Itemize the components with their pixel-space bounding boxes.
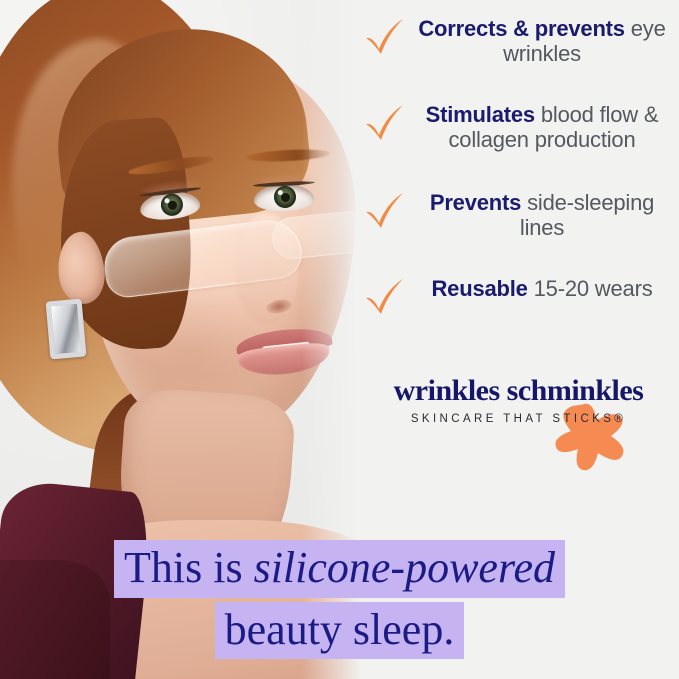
product-marketing-image: Corrects & prevents eye wrinkles Stimula… <box>0 0 679 679</box>
benefit-text-3: Prevents side-sleeping lines <box>408 190 676 241</box>
benefit-item-3: Prevents side-sleeping lines <box>358 190 679 241</box>
banner-line-1: This is silicone-powered <box>0 540 679 598</box>
brand-tagline: SKINCARE THAT STICKS® <box>358 413 679 425</box>
orange-check-icon <box>362 190 406 230</box>
benefit-highlight-2: Stimulates <box>426 102 535 127</box>
banner-line-2-mark: beauty sleep. <box>215 602 465 660</box>
iris-right <box>274 186 297 209</box>
orange-check-icon <box>362 276 406 316</box>
benefit-highlight-4: Reusable <box>431 276 527 301</box>
banner-line-1-mark: This is silicone-powered <box>114 540 565 598</box>
banner-line-2: beauty sleep. <box>0 602 679 660</box>
banner-line-1-italic: silicone-powered <box>254 543 555 592</box>
orange-x-splat-icon <box>554 400 632 474</box>
silver-hoop-earring-icon <box>46 299 87 360</box>
benefit-highlight-3: Prevents <box>430 190 521 215</box>
benefit-rest-4: 15-20 wears <box>534 276 653 301</box>
benefit-item-1: Corrects & prevents eye wrinkles <box>358 16 679 67</box>
benefit-item-4: Reusable 15-20 wears <box>358 276 679 301</box>
benefit-text-2: Stimulates blood flow & collagen product… <box>408 102 676 153</box>
banner-line-1-plain: This is <box>124 543 254 592</box>
benefit-text-1: Corrects & prevents eye wrinkles <box>408 16 676 67</box>
orange-check-icon <box>362 102 406 142</box>
benefit-item-2: Stimulates blood flow & collagen product… <box>358 102 679 153</box>
eye-glint-right <box>278 190 283 195</box>
benefit-text-4: Reusable 15-20 wears <box>408 276 676 301</box>
brand-logo: wrinkles schminkles SKINCARE THAT STICKS… <box>358 376 679 425</box>
benefit-highlight-1: Corrects & prevents <box>418 16 625 41</box>
orange-check-icon <box>362 16 406 56</box>
iris-left <box>160 193 184 217</box>
tagline-banner: This is silicone-powered beauty sleep. <box>0 540 679 659</box>
benefit-rest-3: side-sleeping lines <box>520 190 654 240</box>
